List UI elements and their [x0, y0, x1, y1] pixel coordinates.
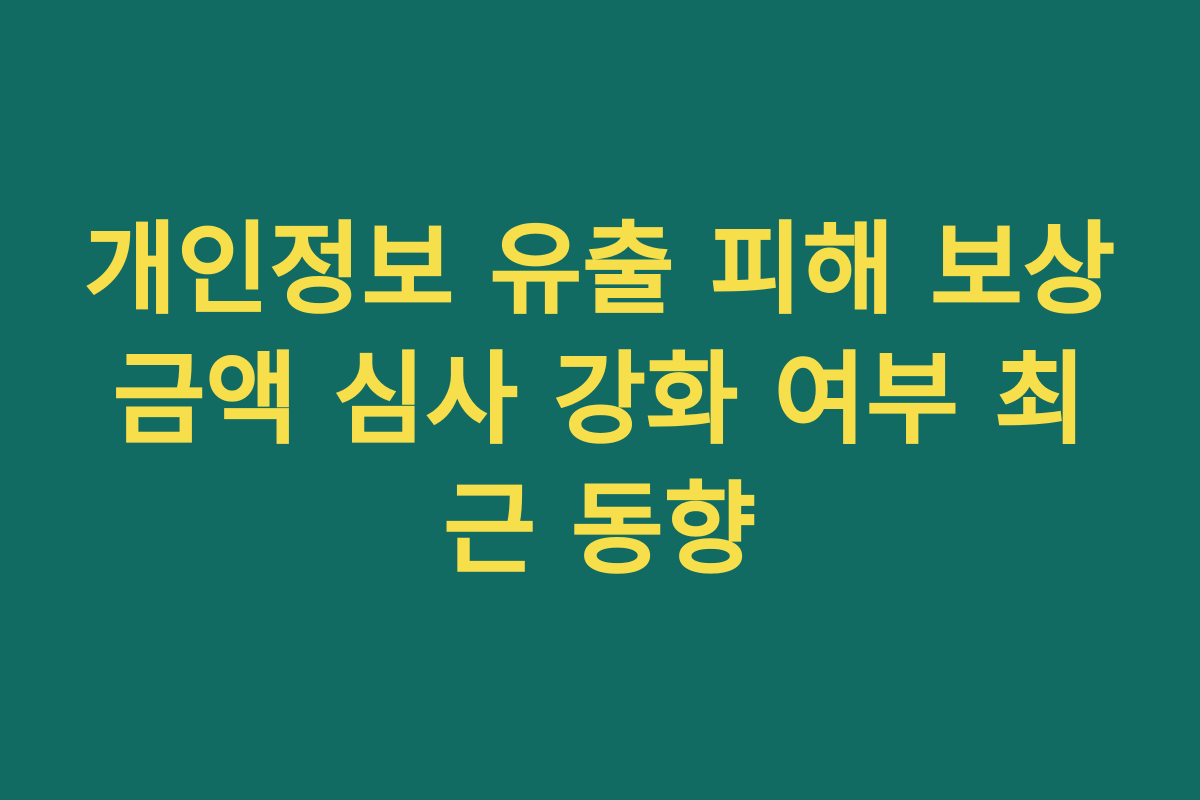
headline-line-1: 개인정보 유출 피해 보상 — [70, 205, 1130, 335]
banner-canvas: 개인정보 유출 피해 보상 금액 심사 강화 여부 최 근 동향 — [0, 0, 1200, 800]
headline-line-2: 금액 심사 강화 여부 최 — [70, 335, 1130, 465]
headline-text: 개인정보 유출 피해 보상 금액 심사 강화 여부 최 근 동향 — [70, 205, 1130, 595]
headline-line-3: 근 동향 — [70, 465, 1130, 595]
